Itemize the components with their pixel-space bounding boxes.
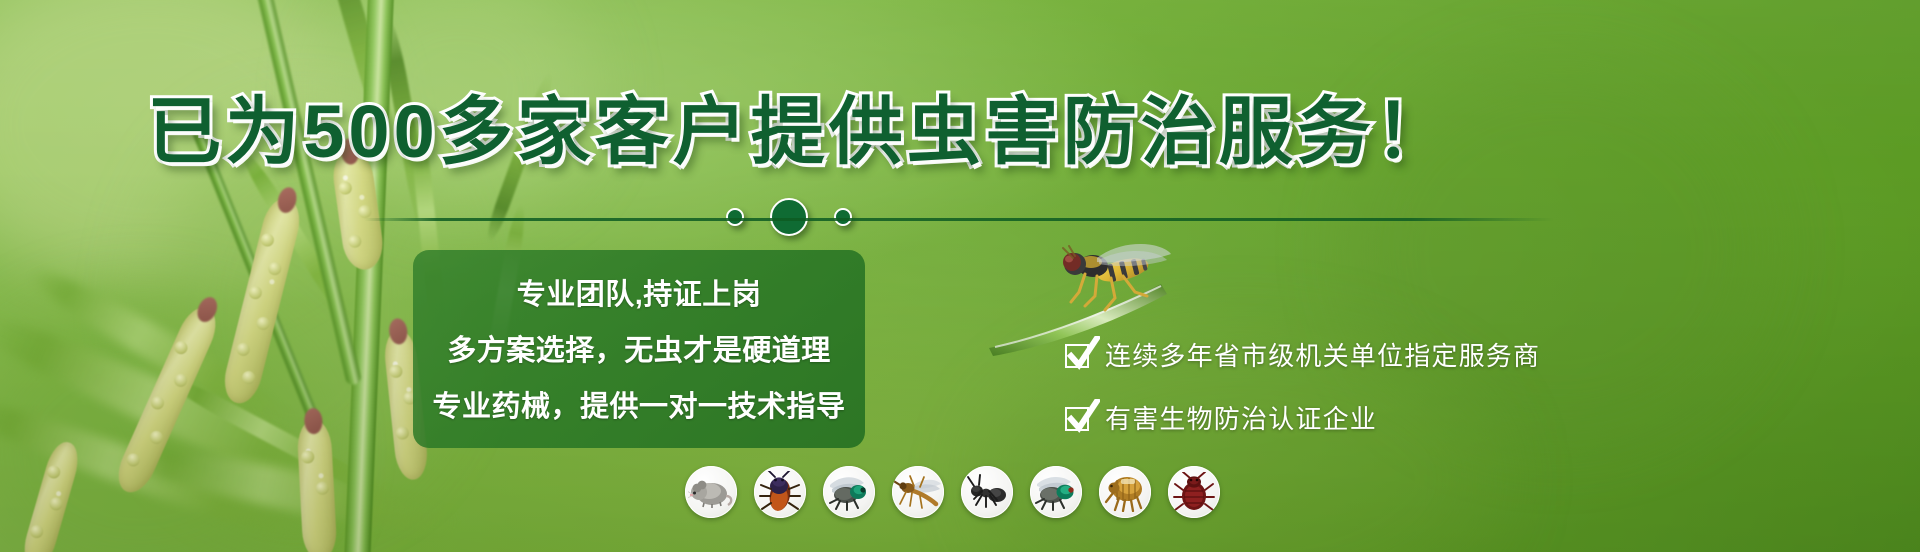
pest-icon-mouse[interactable]	[685, 466, 737, 518]
blowfly-icon	[1033, 473, 1079, 511]
pest-icon-fly[interactable]	[823, 466, 875, 518]
list-item: 连续多年省市级机关单位指定服务商	[1065, 336, 1540, 373]
checkbox-checked-icon	[1065, 405, 1091, 431]
pest-control-banner: 已为500多家客户提供虫害防治服务！ 专业团队,持证上岗 多方案选择，无虫才是硬…	[0, 0, 1920, 552]
fly-icon	[826, 473, 872, 511]
cockroach-icon	[758, 471, 802, 513]
pest-icon-blowfly[interactable]	[1030, 466, 1082, 518]
pest-icon-flea[interactable]	[1099, 466, 1151, 518]
divider-rule	[364, 218, 1554, 221]
checkbox-checked-icon	[1065, 342, 1091, 368]
selling-points-panel: 专业团队,持证上岗 多方案选择，无虫才是硬道理 专业药械，提供一对一技术指导	[413, 250, 865, 448]
dot-small-left-icon	[726, 208, 744, 226]
flea-icon	[1103, 472, 1147, 512]
pest-icon-ant[interactable]	[961, 466, 1013, 518]
pest-icon-mosquito[interactable]	[892, 466, 944, 518]
pest-icon-cockroach[interactable]	[754, 466, 806, 518]
panel-line-1: 专业团队,持证上岗	[517, 271, 762, 313]
banner-headline: 已为500多家客户提供虫害防治服务！	[0, 72, 1600, 179]
credential-text: 有害生物防治认证企业	[1105, 399, 1377, 436]
pest-icon-bedbug[interactable]	[1168, 466, 1220, 518]
credentials-list: 连续多年省市级机关单位指定服务商 有害生物防治认证企业	[1065, 336, 1540, 436]
dot-large-center-icon	[770, 198, 808, 236]
bedbug-icon	[1173, 472, 1215, 512]
credential-text: 连续多年省市级机关单位指定服务商	[1105, 336, 1540, 373]
panel-line-3: 专业药械，提供一对一技术指导	[432, 383, 845, 425]
dot-small-right-icon	[834, 208, 852, 226]
mouse-icon	[688, 472, 734, 512]
ant-icon	[966, 473, 1008, 511]
mosquito-icon	[894, 474, 942, 510]
decor-dots	[726, 196, 876, 238]
pest-type-icons	[685, 466, 1220, 518]
list-item: 有害生物防治认证企业	[1065, 399, 1540, 436]
panel-line-2: 多方案选择，无虫才是硬道理	[447, 327, 831, 369]
